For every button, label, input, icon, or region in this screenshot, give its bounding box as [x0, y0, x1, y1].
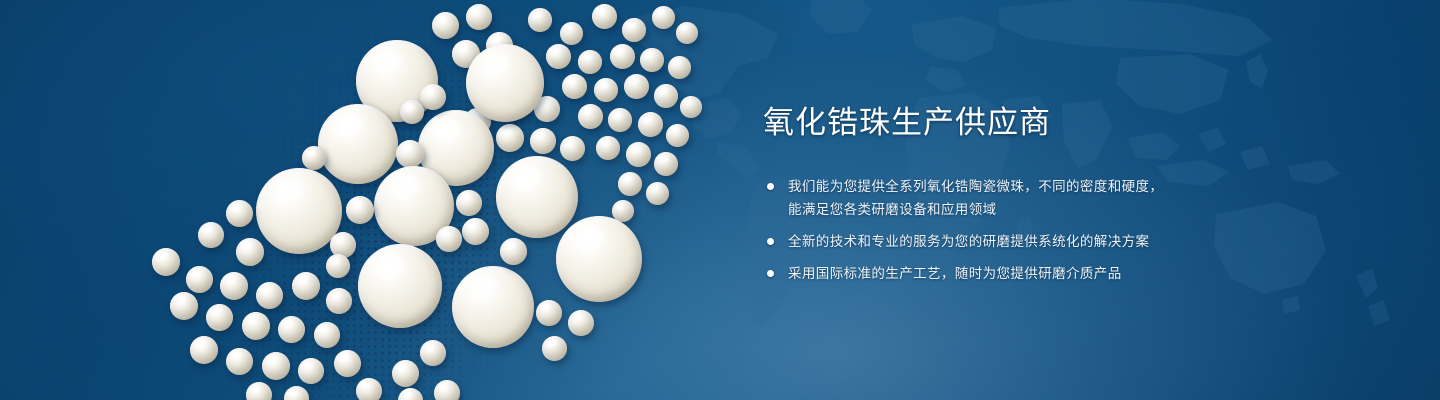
bullet-text-line: 我们能为您提供全系列氧化锆陶瓷微珠，不同的密度和硬度， — [788, 175, 1223, 198]
bullet-text-line: 能满足您各类研磨设备和应用领域 — [788, 198, 1223, 221]
bullet-dot-icon — [767, 238, 774, 245]
list-item: 全新的技术和专业的服务为您的研磨提供系统化的解决方案 — [763, 230, 1223, 253]
background-vignette — [0, 0, 1440, 400]
bullet-text-line: 全新的技术和专业的服务为您的研磨提供系统化的解决方案 — [788, 230, 1223, 253]
banner-content: 氧化锆珠生产供应商 我们能为您提供全系列氧化锆陶瓷微珠，不同的密度和硬度， 能满… — [763, 104, 1223, 285]
list-item: 采用国际标准的生产工艺，随时为您提供研磨介质产品 — [763, 262, 1223, 285]
feature-bullet-list: 我们能为您提供全系列氧化锆陶瓷微珠，不同的密度和硬度， 能满足您各类研磨设备和应… — [763, 175, 1223, 285]
bullet-text-line: 采用国际标准的生产工艺，随时为您提供研磨介质产品 — [788, 262, 1223, 285]
bullet-dot-icon — [767, 270, 774, 277]
hero-banner: 氧化锆珠生产供应商 我们能为您提供全系列氧化锆陶瓷微珠，不同的密度和硬度， 能满… — [0, 0, 1440, 400]
page-title: 氧化锆珠生产供应商 — [763, 104, 1223, 141]
list-item: 我们能为您提供全系列氧化锆陶瓷微珠，不同的密度和硬度， 能满足您各类研磨设备和应… — [763, 175, 1223, 221]
bullet-dot-icon — [767, 183, 774, 190]
